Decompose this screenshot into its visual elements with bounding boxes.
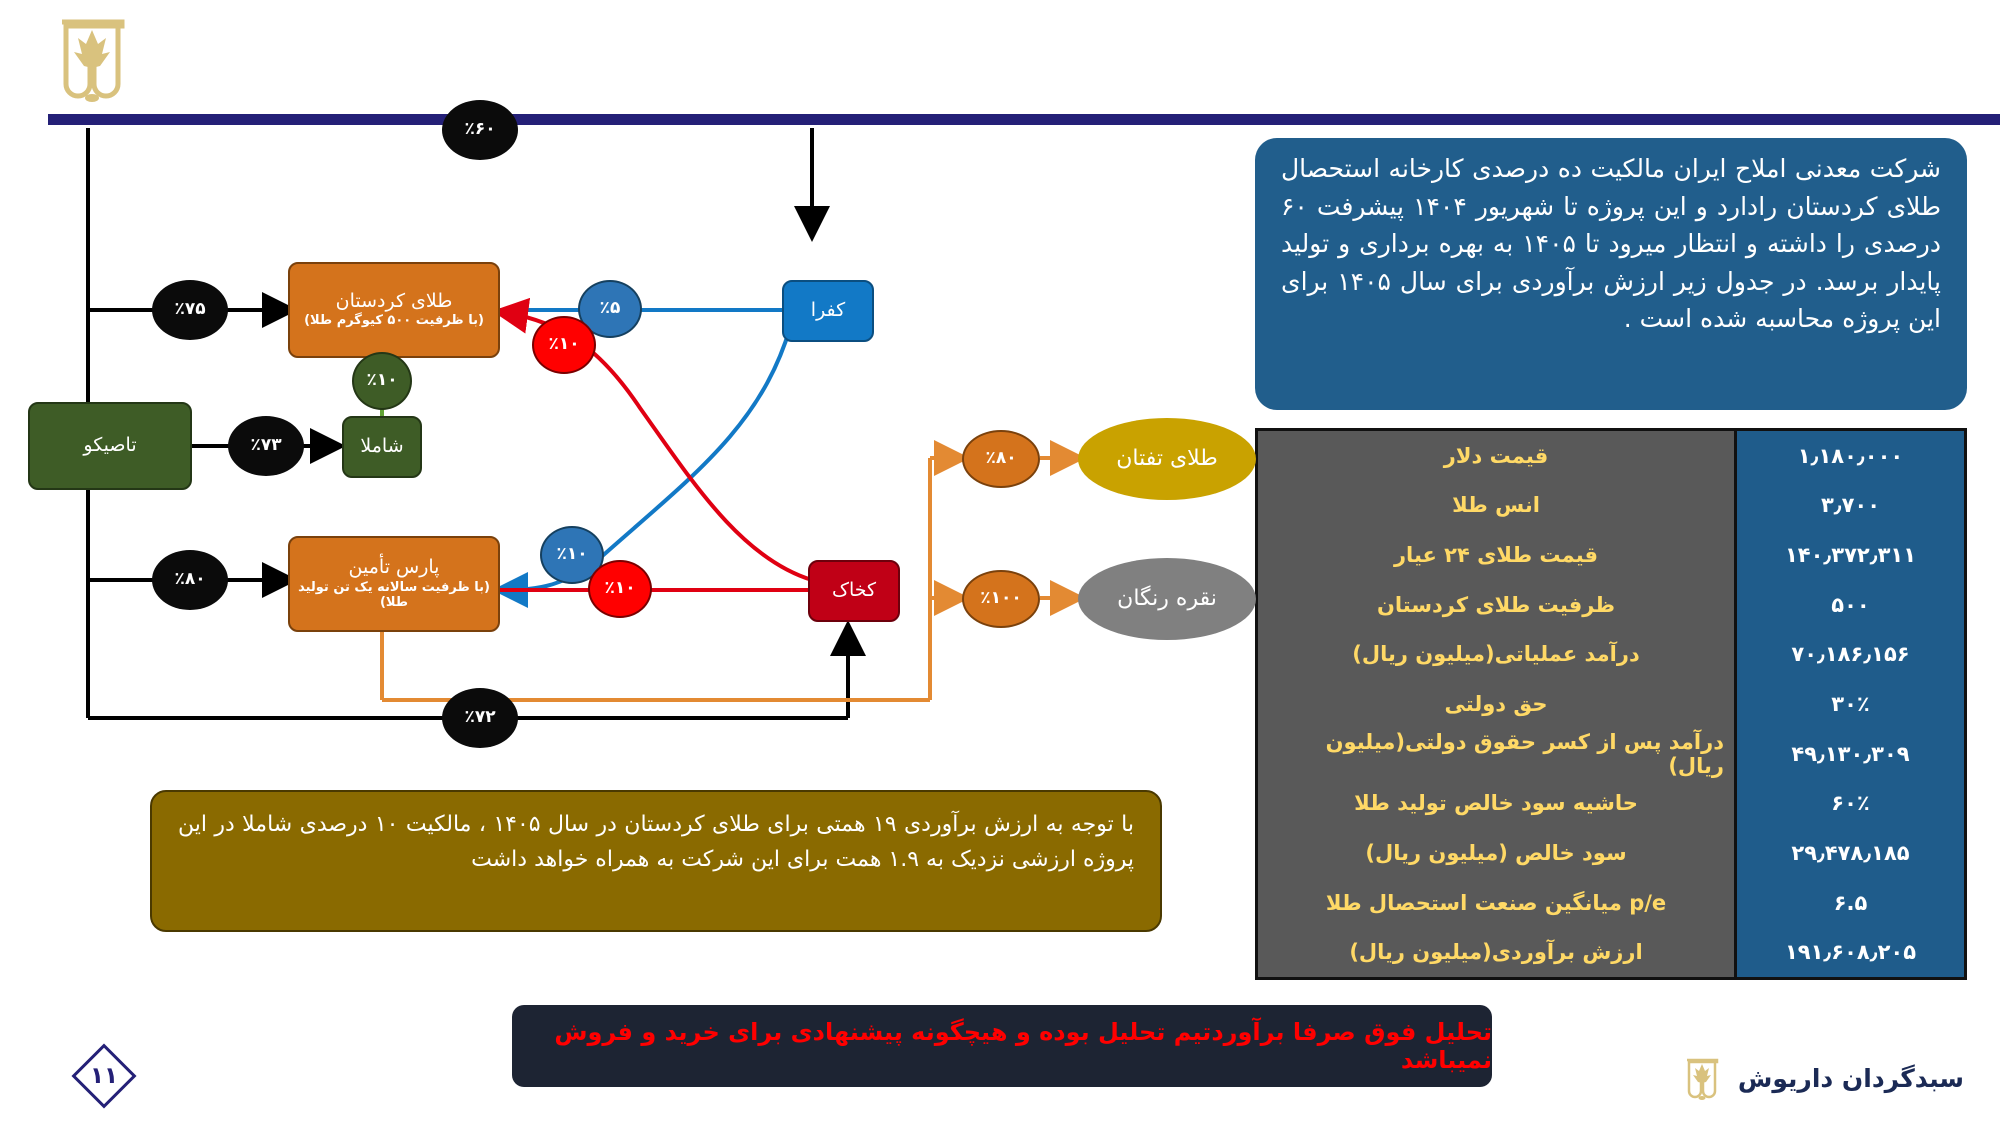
valuation-table-labels-column: قیمت دلار انس طلا قیمت طلای ۲۴ عیار ظرفی… xyxy=(1258,431,1734,977)
node-gold-kurdestan-sub: (با ظرفیت ۵۰۰ کیوگرم طلا) xyxy=(304,314,484,329)
table-row: ۱٫۱۸۰٫۰۰۰ xyxy=(1737,431,1964,481)
table-row: ۷۰٫۱۸۶٫۱۵۶ xyxy=(1737,630,1964,680)
footer-brand-name: سبدگردان داریوش xyxy=(1738,1064,1964,1093)
table-row: درآمد عملیاتی(میلیون ریال) xyxy=(1258,630,1734,680)
node-kafra-label: کفرا xyxy=(811,300,845,322)
node-taftan-gold-label: طلای تفتان xyxy=(1116,446,1218,471)
node-rangan-silver[interactable]: نقره رنگان xyxy=(1078,558,1256,640)
footer-brand: سبدگردان داریوش xyxy=(1680,1052,1964,1104)
valuation-note: با توجه به ارزش برآوردی ۱۹ همتی برای طلا… xyxy=(150,790,1162,932)
table-row: p/e میانگین صنعت استحصال طلا xyxy=(1258,878,1734,928)
table-row: قیمت طلای ۲۴ عیار xyxy=(1258,530,1734,580)
table-row: ۲۹٫۴۷۸٫۱۸۵ xyxy=(1737,828,1964,878)
node-taftan-gold[interactable]: طلای تفتان xyxy=(1078,418,1256,500)
table-row: حاشیه سود خالص تولید طلا xyxy=(1258,778,1734,828)
node-rangan-silver-label: نقره رنگان xyxy=(1117,586,1217,611)
edge-badge-10-red-bottom: ٪۱۰ xyxy=(588,560,652,618)
table-row: درآمد پس از کسر حقوق دولتی(میلیون ریال) xyxy=(1258,729,1734,779)
node-pars-tamin-sub: (با ظرفیت سالانه یک تن تولید طلا) xyxy=(290,581,498,611)
node-shamla[interactable]: شاملا xyxy=(342,416,422,478)
page-number-badge: ۱۱ xyxy=(70,1042,138,1110)
node-kakhak[interactable]: کخاک xyxy=(808,560,900,622)
node-gold-kurdestan[interactable]: طلای کردستان (با ظرفیت ۵۰۰ کیوگرم طلا) xyxy=(288,262,500,358)
node-tasico[interactable]: تاصیکو xyxy=(28,402,192,490)
node-shamla-label: شاملا xyxy=(360,436,403,458)
ownership-diagram: تاصیکو شاملا طلای کردستان (با ظرفیت ۵۰۰ … xyxy=(0,128,1200,768)
table-row: قیمت دلار xyxy=(1258,431,1734,481)
edge-badge-72: ٪۷۲ xyxy=(442,688,518,748)
header-rule xyxy=(48,114,2000,125)
table-row: حق دولتی xyxy=(1258,679,1734,729)
edge-badge-80-taftan: ٪۸۰ xyxy=(962,430,1040,488)
disclaimer-banner: تحلیل فوق صرفا برآوردتیم تحلیل بوده و هی… xyxy=(512,1005,1492,1087)
node-gold-kurdestan-label: طلای کردستان xyxy=(336,291,453,313)
table-row: ۵۰۰ xyxy=(1737,580,1964,630)
darius-crest-logo-icon xyxy=(1680,1052,1724,1104)
node-kakhak-label: کخاک xyxy=(832,580,876,602)
edge-badge-100-rangan: ٪۱۰۰ xyxy=(962,570,1040,628)
node-kafra[interactable]: کفرا xyxy=(782,280,874,342)
page-number: ۱۱ xyxy=(70,1042,138,1110)
edge-badge-80-left: ٪۸۰ xyxy=(152,550,228,610)
node-tasico-label: تاصیکو xyxy=(83,435,136,457)
table-row: ۱۹۱٫۶۰۸٫۲۰۵ xyxy=(1737,927,1964,977)
table-row: ۳٫۷۰۰ xyxy=(1737,481,1964,531)
table-row: ۳۰٪ xyxy=(1737,679,1964,729)
project-summary-callout: شرکت معدنی املاح ایران مالکیت ده درصدی ک… xyxy=(1255,138,1967,410)
table-row: سود خالص (میلیون ریال) xyxy=(1258,828,1734,878)
valuation-table-values-column: ۱٫۱۸۰٫۰۰۰ ۳٫۷۰۰ ۱۴۰٫۳۷۲٫۳۱۱ ۵۰۰ ۷۰٫۱۸۶٫۱… xyxy=(1734,431,1964,977)
table-row: انس طلا xyxy=(1258,481,1734,531)
table-row: ۶۰٪ xyxy=(1737,778,1964,828)
valuation-table: ۱٫۱۸۰٫۰۰۰ ۳٫۷۰۰ ۱۴۰٫۳۷۲٫۳۱۱ ۵۰۰ ۷۰٫۱۸۶٫۱… xyxy=(1255,428,1967,980)
edge-badge-60: ٪۶۰ xyxy=(442,100,518,160)
edge-badge-10-shamla: ٪۱۰ xyxy=(352,352,412,410)
table-row: ۶.۵ xyxy=(1737,878,1964,928)
edge-badge-75: ٪۷۵ xyxy=(152,280,228,340)
table-row: ظرفیت طلای کردستان xyxy=(1258,580,1734,630)
slide-canvas: تاصیکو شاملا طلای کردستان (با ظرفیت ۵۰۰ … xyxy=(0,0,2000,1125)
edge-badge-10-red-top: ٪۱۰ xyxy=(532,316,596,374)
darius-crest-logo-icon xyxy=(48,6,136,102)
edge-badge-73: ٪۷۳ xyxy=(228,416,304,476)
table-row: ارزش برآوردی(میلیون ریال) xyxy=(1258,927,1734,977)
table-row: ۴۹٫۱۳۰٫۳۰۹ xyxy=(1737,729,1964,779)
node-pars-tamin-label: پارس تأمین xyxy=(349,557,440,579)
node-pars-tamin[interactable]: پارس تأمین (با ظرفیت سالانه یک تن تولید … xyxy=(288,536,500,632)
table-row: ۱۴۰٫۳۷۲٫۳۱۱ xyxy=(1737,530,1964,580)
